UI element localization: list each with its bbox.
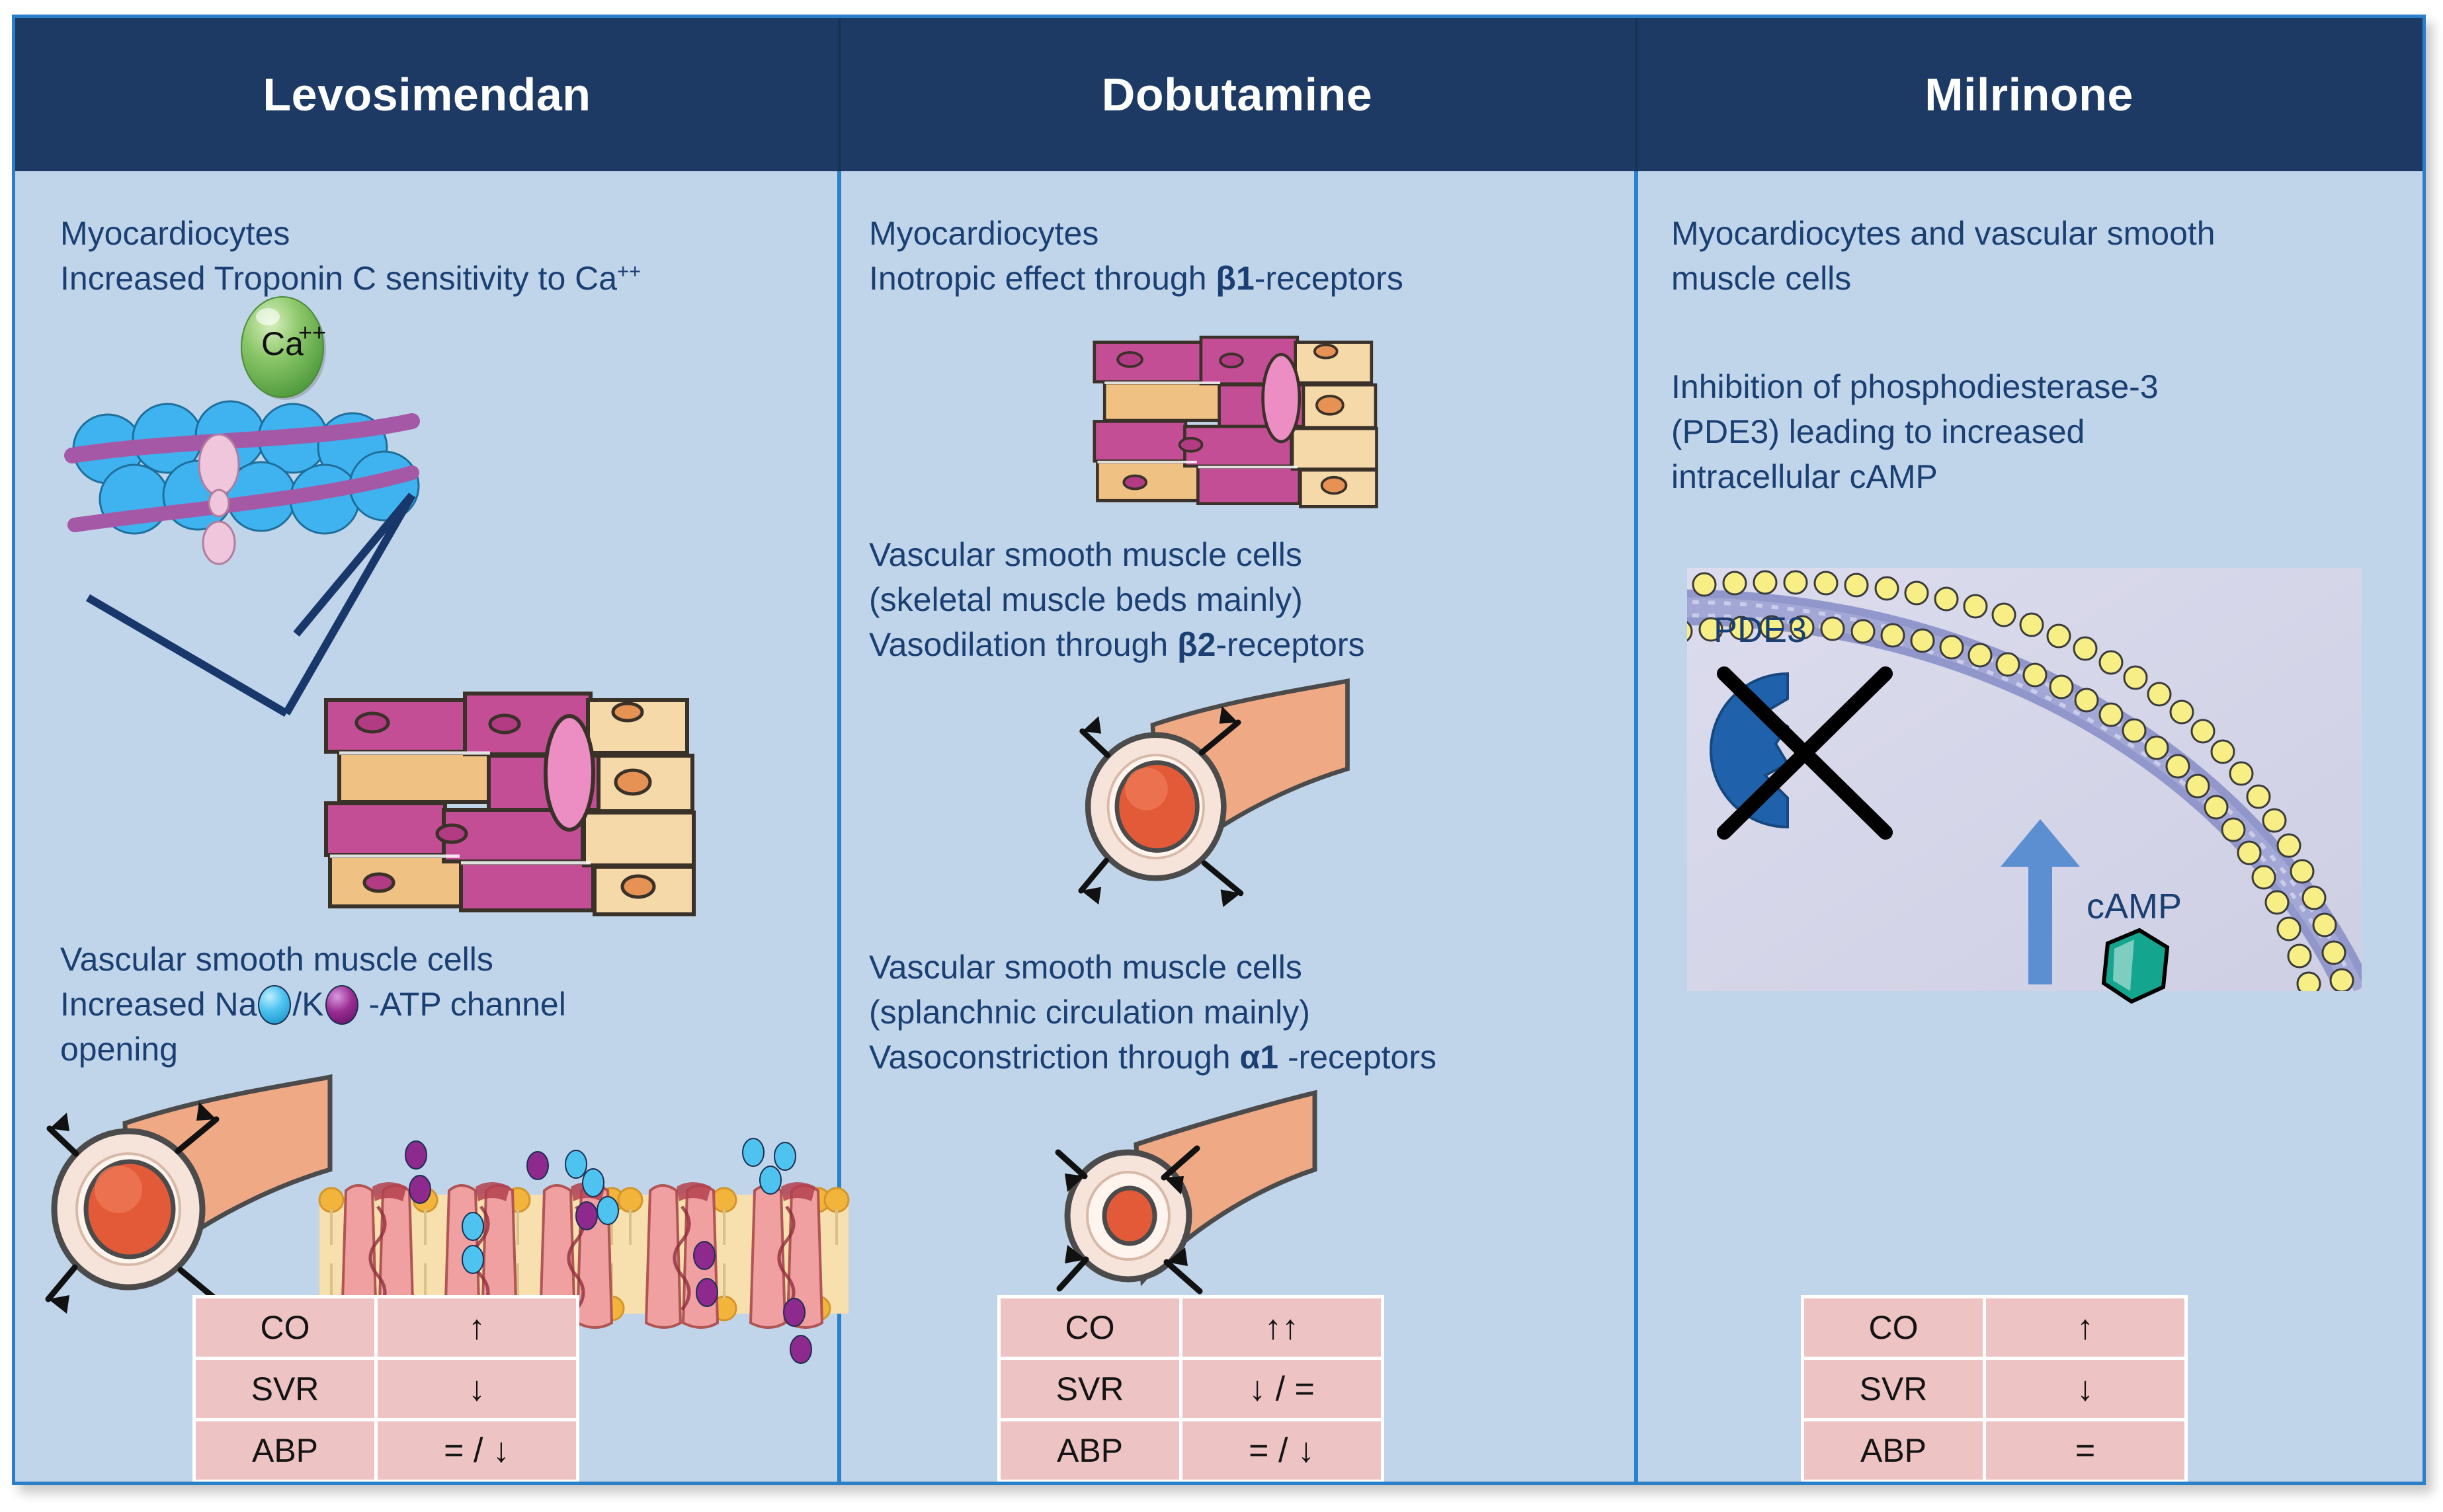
column-milrinone: Myocardiocytes and vascular smooth muscl… bbox=[1638, 171, 2422, 1482]
dobu-block1-line1: Myocardiocytes bbox=[869, 212, 1623, 255]
milr-block2-line1: Inhibition of phosphodiesterase-3 bbox=[1671, 366, 2412, 409]
table-row: CO ↑ bbox=[1804, 1298, 2184, 1357]
calcium-charge-label: ++ bbox=[298, 319, 326, 346]
levo-atp-text: -ATP channel bbox=[360, 986, 566, 1023]
dobu-vasoconstriction-post: -receptors bbox=[1278, 1039, 1436, 1076]
comparison-figure: Levosimendan Dobutamine Milrinone Myocar… bbox=[12, 15, 2426, 1485]
column-levosimendan: Myocardiocytes Increased Troponin C sens… bbox=[15, 171, 837, 1482]
table-row: SVR ↓ bbox=[196, 1360, 576, 1418]
row-key: CO bbox=[1804, 1298, 1983, 1357]
dobu-vasoconstriction-pre: Vasoconstriction through bbox=[869, 1039, 1240, 1076]
levo-calcium-superscript: ++ bbox=[617, 259, 641, 282]
column-title-milrinone: Milrinone bbox=[1925, 68, 2133, 121]
body-row: Myocardiocytes Increased Troponin C sens… bbox=[15, 171, 2422, 1482]
levo-block2-line3: opening bbox=[60, 1028, 841, 1071]
levo-block2-line1: Vascular smooth muscle cells bbox=[60, 938, 841, 981]
row-key: SVR bbox=[1804, 1360, 1983, 1418]
row-value: ↓ bbox=[378, 1360, 576, 1418]
table-row: SVR ↓ / = bbox=[1001, 1360, 1381, 1418]
dobu-block2-line2: (skeletal muscle beds mainly) bbox=[869, 578, 1630, 621]
milr-block2-line3: intracellular cAMP bbox=[1671, 456, 2412, 498]
row-key: ABP bbox=[196, 1421, 374, 1480]
cardiac-muscle-tissue-illustration-dobutamine bbox=[1026, 322, 1436, 540]
dobu-vasodilation-post: -receptors bbox=[1216, 626, 1364, 663]
dilated-vessel-illustration-dobutamine bbox=[1070, 694, 1361, 945]
hemodynamic-table-dobutamine: CO ↑↑ SVR ↓ / = ABP = / ↓ bbox=[997, 1295, 1384, 1483]
alpha1-receptor-label: α1 bbox=[1240, 1039, 1279, 1076]
row-value: = bbox=[1986, 1421, 2184, 1480]
table-row: ABP = / ↓ bbox=[1001, 1421, 1381, 1480]
dobu-block3-line1: Vascular smooth muscle cells bbox=[869, 946, 1630, 989]
beta2-receptor-label: β2 bbox=[1177, 626, 1216, 663]
pde3-camp-cell-diagram: PDE3 cAMP bbox=[1687, 568, 2362, 991]
row-value: = / ↓ bbox=[1182, 1421, 1381, 1480]
column-dobutamine: Myocardiocytes Inotropic effect through … bbox=[841, 171, 1634, 1482]
table-row: CO ↑ bbox=[196, 1298, 576, 1357]
dobu-block3-line2: (splanchnic circulation mainly) bbox=[869, 991, 1630, 1034]
row-value: ↑ bbox=[378, 1298, 576, 1357]
dobu-block2-line1: Vascular smooth muscle cells bbox=[869, 534, 1630, 577]
dobu-vasodilation-pre: Vasodilation through bbox=[869, 626, 1177, 663]
cardiac-muscle-tissue-illustration bbox=[300, 674, 710, 958]
pde3-label: PDE3 bbox=[1714, 610, 1807, 650]
camp-molecule-icon bbox=[2104, 930, 2167, 1002]
calcium-label: Ca bbox=[261, 325, 304, 362]
levo-block1-line2: Increased Troponin C sensitivity to Ca++ bbox=[60, 257, 841, 300]
header-cell-milrinone: Milrinone bbox=[1636, 18, 2422, 171]
sodium-ion-icon bbox=[258, 985, 291, 1025]
row-key: SVR bbox=[196, 1360, 374, 1418]
table-row: CO ↑↑ bbox=[1001, 1298, 1381, 1357]
row-value: ↑↑ bbox=[1182, 1298, 1381, 1357]
header-row: Levosimendan Dobutamine Milrinone bbox=[15, 18, 2422, 171]
dobu-inotropic-post: -receptors bbox=[1255, 260, 1403, 297]
milr-block1-line1: Myocardiocytes and vascular smooth bbox=[1671, 212, 2412, 255]
table-row: SVR ↓ bbox=[1804, 1360, 2184, 1418]
column-title-dobutamine: Dobutamine bbox=[1102, 68, 1372, 121]
row-key: SVR bbox=[1001, 1360, 1179, 1418]
camp-label: cAMP bbox=[2087, 887, 2182, 926]
hemodynamic-table-milrinone: CO ↑ SVR ↓ ABP = bbox=[1801, 1295, 2188, 1483]
potassium-ion-icon bbox=[325, 985, 358, 1025]
header-cell-levosimendan: Levosimendan bbox=[15, 18, 839, 171]
row-value: ↓ / = bbox=[1182, 1360, 1381, 1418]
dobu-block3-line3: Vasoconstriction through α1 -receptors bbox=[869, 1036, 1630, 1079]
milr-block1-line2: muscle cells bbox=[1671, 257, 2412, 300]
row-key: CO bbox=[1001, 1298, 1179, 1357]
row-key: ABP bbox=[1001, 1421, 1179, 1480]
column-title-levosimendan: Levosimendan bbox=[263, 68, 591, 121]
levo-sodium-text: Increased Na bbox=[60, 986, 257, 1023]
row-value: ↑ bbox=[1986, 1298, 2184, 1357]
dobu-block2-line3: Vasodilation through β2-receptors bbox=[869, 623, 1630, 666]
row-key: CO bbox=[196, 1298, 374, 1357]
header-cell-dobutamine: Dobutamine bbox=[839, 18, 1636, 171]
levo-potassium-text: /K bbox=[292, 986, 323, 1023]
milr-block2-line2: (PDE3) leading to increased bbox=[1671, 411, 2412, 454]
table-row: ABP = bbox=[1804, 1421, 2184, 1480]
table-row: ABP = / ↓ bbox=[196, 1421, 576, 1480]
row-value: ↓ bbox=[1986, 1360, 2184, 1418]
beta1-receptor-label: β1 bbox=[1216, 260, 1254, 297]
levo-block2-line2: Increased Na/K -ATP channel bbox=[60, 983, 841, 1026]
dobu-block1-line2: Inotropic effect through β1-receptors bbox=[869, 257, 1630, 300]
row-key: ABP bbox=[1804, 1421, 1983, 1480]
dobu-inotropic-pre: Inotropic effect through bbox=[869, 260, 1216, 297]
levo-block1-line1: Myocardiocytes bbox=[60, 212, 827, 255]
hemodynamic-table-levosimendan: CO ↑ SVR ↓ ABP = / ↓ bbox=[192, 1295, 579, 1483]
row-value: = / ↓ bbox=[378, 1421, 576, 1480]
